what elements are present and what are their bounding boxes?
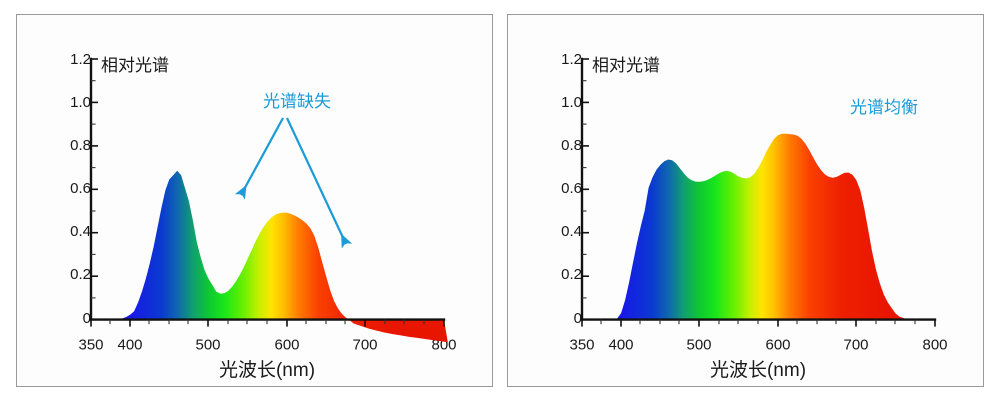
figure-root: 1.2 1.0 0.8 0.6 0.4 0.2 0 350 400 500 60… (0, 0, 1000, 401)
chart-panel-right: 1.2 1.0 0.8 0.6 0.4 0.2 0 350 400 500 60… (507, 14, 984, 387)
spectrum-area-curve (582, 134, 935, 320)
y-tick-label: 0.6 (70, 180, 91, 197)
x-tick-label: 400 (608, 336, 633, 353)
y-tick-label: 1.2 (561, 51, 582, 68)
annotation-label-spectrum-balanced: 光谱均衡 (850, 98, 918, 117)
y-tick-label: 1.0 (70, 94, 91, 111)
x-tick-label: 600 (274, 336, 299, 353)
x-tick-label: 350 (78, 336, 103, 353)
y-tick-label: 0.4 (561, 223, 582, 240)
x-tick-label: 600 (765, 336, 790, 353)
spectrum-chart-right: 1.2 1.0 0.8 0.6 0.4 0.2 0 350 400 500 60… (508, 15, 985, 388)
y-tick-label: 0 (574, 310, 582, 327)
x-tick-label: 350 (569, 336, 594, 353)
plot-title: 相对光谱 (101, 56, 169, 75)
y-tick-label: 0.8 (561, 137, 582, 154)
y-tick-label: 0 (83, 310, 91, 327)
y-tick-label: 0.6 (561, 180, 582, 197)
plot-title: 相对光谱 (592, 56, 660, 75)
y-tick-label: 1.2 (70, 51, 91, 68)
annotation-label-spectrum-missing: 光谱缺失 (263, 92, 331, 111)
spectrum-chart-left: 1.2 1.0 0.8 0.6 0.4 0.2 0 350 400 500 60… (17, 15, 494, 388)
x-tick-label: 500 (195, 336, 220, 353)
y-tick-label: 0.2 (561, 266, 582, 283)
y-tick-label: 0.2 (70, 266, 91, 283)
x-tick-label: 700 (843, 336, 868, 353)
y-tick-label: 1.0 (561, 94, 582, 111)
spectrum-area-curve (91, 171, 448, 342)
x-tick-label: 700 (352, 336, 377, 353)
y-tick-label: 0.8 (70, 137, 91, 154)
x-tick-label: 800 (922, 336, 947, 353)
x-tick-label: 500 (686, 336, 711, 353)
y-tick-label: 0.4 (70, 223, 91, 240)
x-axis-title: 光波长(nm) (219, 359, 315, 381)
chart-panel-left: 1.2 1.0 0.8 0.6 0.4 0.2 0 350 400 500 60… (16, 14, 493, 387)
x-tick-label: 400 (117, 336, 142, 353)
x-axis-title: 光波长(nm) (710, 359, 806, 381)
annotation-arrow-left (241, 118, 283, 195)
